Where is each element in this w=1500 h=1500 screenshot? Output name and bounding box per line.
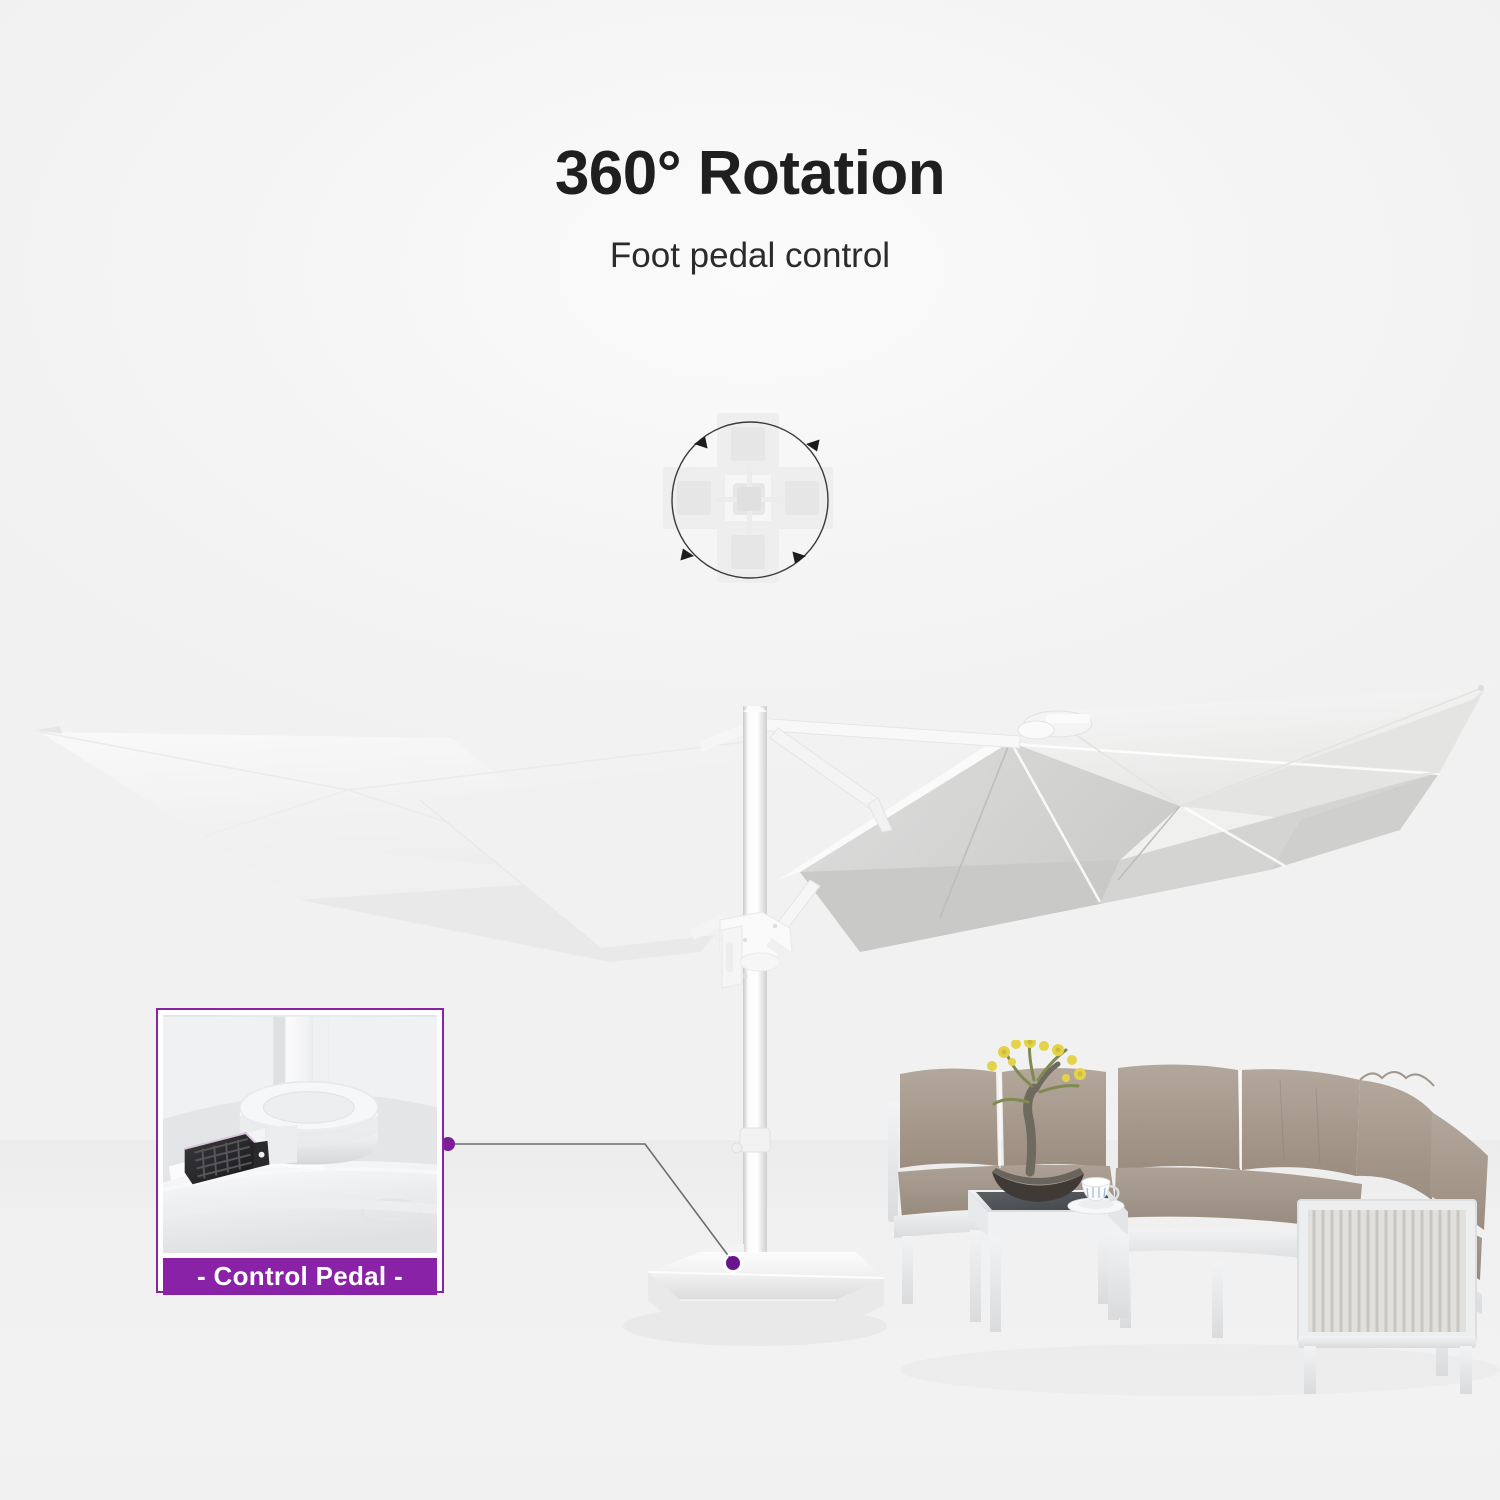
page-subtitle: Foot pedal control xyxy=(0,238,1500,273)
patio-furniture-set xyxy=(880,1040,1500,1410)
umbrella-rotation-hub xyxy=(720,912,800,988)
control-pedal-photo xyxy=(163,1015,437,1253)
umbrella-support-arm xyxy=(690,718,1020,940)
rotation-arrows-circle-icon xyxy=(655,405,845,595)
umbrella-ghost-canopy xyxy=(36,726,760,962)
control-pedal-callout: - Control Pedal - xyxy=(156,1008,444,1293)
umbrella-main-canopy xyxy=(778,682,1496,952)
page-title: 360° Rotation xyxy=(0,143,1500,205)
callout-caption: - Control Pedal - xyxy=(163,1258,437,1295)
product-feature-image: 360° Rotation Foot pedal control xyxy=(0,0,1500,1500)
callout-leader-line xyxy=(430,1110,770,1300)
